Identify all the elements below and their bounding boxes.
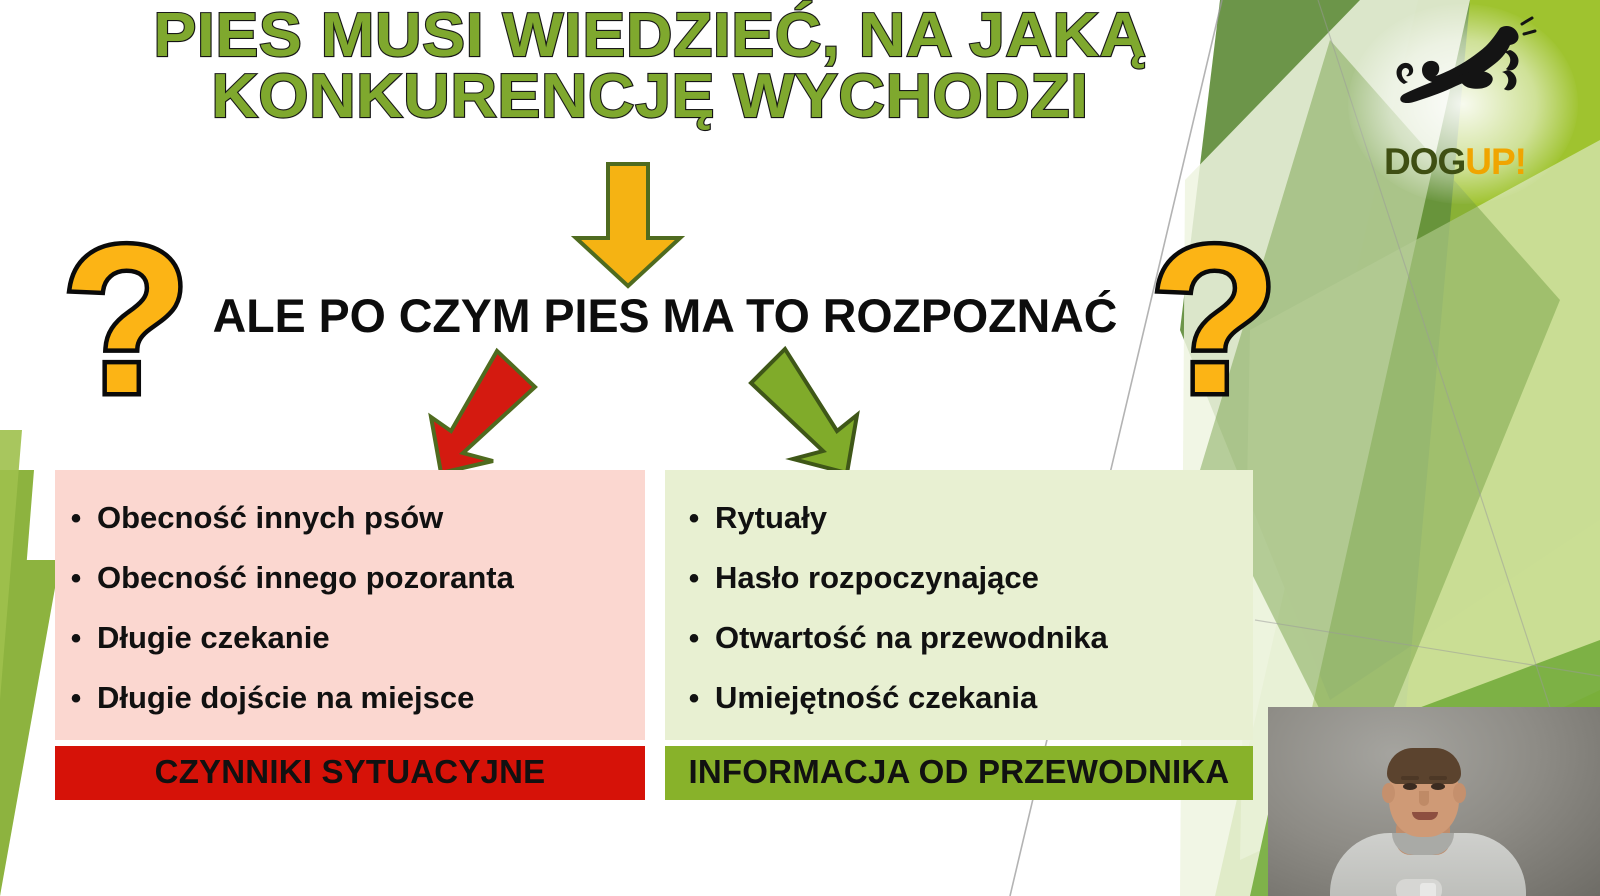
arrow-down-yellow-icon bbox=[568, 160, 688, 290]
question-mark-left-icon: ? bbox=[62, 215, 190, 425]
bullet-icon: • bbox=[673, 684, 715, 714]
list-item-label: Obecność innego pozoranta bbox=[97, 560, 645, 596]
list-item-label: Hasło rozpoczynające bbox=[715, 560, 1253, 596]
logo-wordmark: DOGUP! bbox=[1384, 143, 1526, 180]
webcam-person-hair bbox=[1387, 748, 1461, 784]
list-item-label: Obecność innych psów bbox=[97, 500, 645, 536]
webcam-person-ear-right bbox=[1453, 783, 1466, 803]
webcam-person-nose bbox=[1419, 791, 1429, 806]
bullet-icon: • bbox=[55, 564, 97, 594]
list-item: • Obecność innego pozoranta bbox=[55, 548, 645, 608]
webcam-person-mouth bbox=[1412, 812, 1438, 820]
panel-right-footer-label: INFORMACJA OD PRZEWODNIKA bbox=[665, 746, 1253, 800]
brand-logo: DOGUP! bbox=[1382, 14, 1542, 182]
panel-situational-factors: • Obecność innych psów • Obecność innego… bbox=[55, 470, 645, 800]
webcam-person-ear-left bbox=[1382, 783, 1395, 803]
title-line-1: PIES MUSI WIEDZIEĆ, NA JAKĄ bbox=[99, 6, 1201, 67]
question-mark-right-icon: ? bbox=[1150, 215, 1278, 425]
list-item: • Długie czekanie bbox=[55, 608, 645, 668]
arrow-down-left-red-icon bbox=[405, 345, 545, 480]
logo-word-up: UP! bbox=[1465, 141, 1526, 182]
webcam-video-overlay[interactable] bbox=[1268, 707, 1600, 896]
webcam-person-eye-right bbox=[1431, 783, 1445, 790]
list-item-label: Otwartość na przewodnika bbox=[715, 620, 1253, 656]
panel-right-body: • Rytuały • Hasło rozpoczynające • Otwar… bbox=[665, 470, 1253, 740]
bullet-icon: • bbox=[55, 684, 97, 714]
panel-handler-information: • Rytuały • Hasło rozpoczynające • Otwar… bbox=[665, 470, 1253, 800]
list-item-label: Rytuały bbox=[715, 500, 1253, 536]
list-item: • Hasło rozpoczynające bbox=[665, 548, 1253, 608]
bullet-icon: • bbox=[673, 564, 715, 594]
list-item: • Otwartość na przewodnika bbox=[665, 608, 1253, 668]
webcam-person-eye-left bbox=[1403, 783, 1417, 790]
list-item: • Umiejętność czekania bbox=[665, 668, 1253, 728]
slide-canvas: PIES MUSI WIEDZIEĆ, NA JAKĄ KONKURENCJĘ … bbox=[0, 0, 1600, 896]
bullet-icon: • bbox=[673, 504, 715, 534]
title-line-2: KONKURENCJĘ WYCHODZI bbox=[99, 67, 1201, 128]
list-item: • Obecność innych psów bbox=[55, 488, 645, 548]
arrow-down-right-green-icon bbox=[745, 345, 885, 480]
panel-left-body: • Obecność innych psów • Obecność innego… bbox=[55, 470, 645, 740]
page-title: PIES MUSI WIEDZIEĆ, NA JAKĄ KONKURENCJĘ … bbox=[120, 6, 1180, 128]
panel-left-footer-label: CZYNNIKI SYTUACYJNE bbox=[55, 746, 645, 800]
logo-word-dog: DOG bbox=[1384, 141, 1465, 182]
bullet-icon: • bbox=[55, 504, 97, 534]
webcam-held-object bbox=[1420, 883, 1436, 896]
list-item: • Długie dojście na miejsce bbox=[55, 668, 645, 728]
leaping-dog-icon bbox=[1382, 14, 1542, 144]
bullet-icon: • bbox=[55, 624, 97, 654]
subheading: ALE PO CZYM PIES MA TO ROZPOZNAĆ bbox=[190, 288, 1140, 343]
list-item-label: Długie dojście na miejsce bbox=[97, 680, 645, 716]
webcam-person-eyebrow-right bbox=[1429, 776, 1447, 780]
list-item-label: Długie czekanie bbox=[97, 620, 645, 656]
webcam-person-eyebrow-left bbox=[1401, 776, 1419, 780]
list-item: • Rytuały bbox=[665, 488, 1253, 548]
bullet-icon: • bbox=[673, 624, 715, 654]
list-item-label: Umiejętność czekania bbox=[715, 680, 1253, 716]
